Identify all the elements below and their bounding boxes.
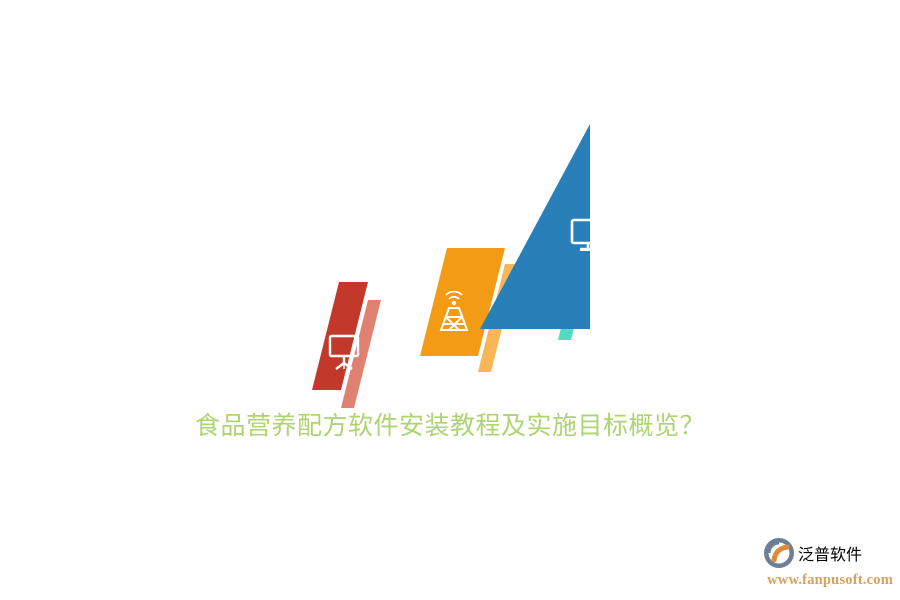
page-title: 食品营养配方软件安装教程及实施目标概览？ bbox=[0, 409, 900, 443]
brand-row: 泛普软件 bbox=[762, 534, 894, 572]
hero-arrow-infographic bbox=[300, 100, 590, 420]
step-block-4 bbox=[480, 100, 590, 329]
page-canvas: 食品营养配方软件安装教程及实施目标概览？ 泛普软件 www.fanpusoft.… bbox=[0, 0, 900, 600]
arrow-shaft bbox=[480, 100, 590, 329]
brand-name: 泛普软件 bbox=[798, 541, 862, 565]
brand-watermark: 泛普软件 www.fanpusoft.com bbox=[762, 534, 894, 592]
step-block-1 bbox=[312, 282, 381, 408]
brand-url: www.fanpusoft.com bbox=[762, 571, 894, 589]
fanpu-logo-icon bbox=[762, 536, 796, 570]
